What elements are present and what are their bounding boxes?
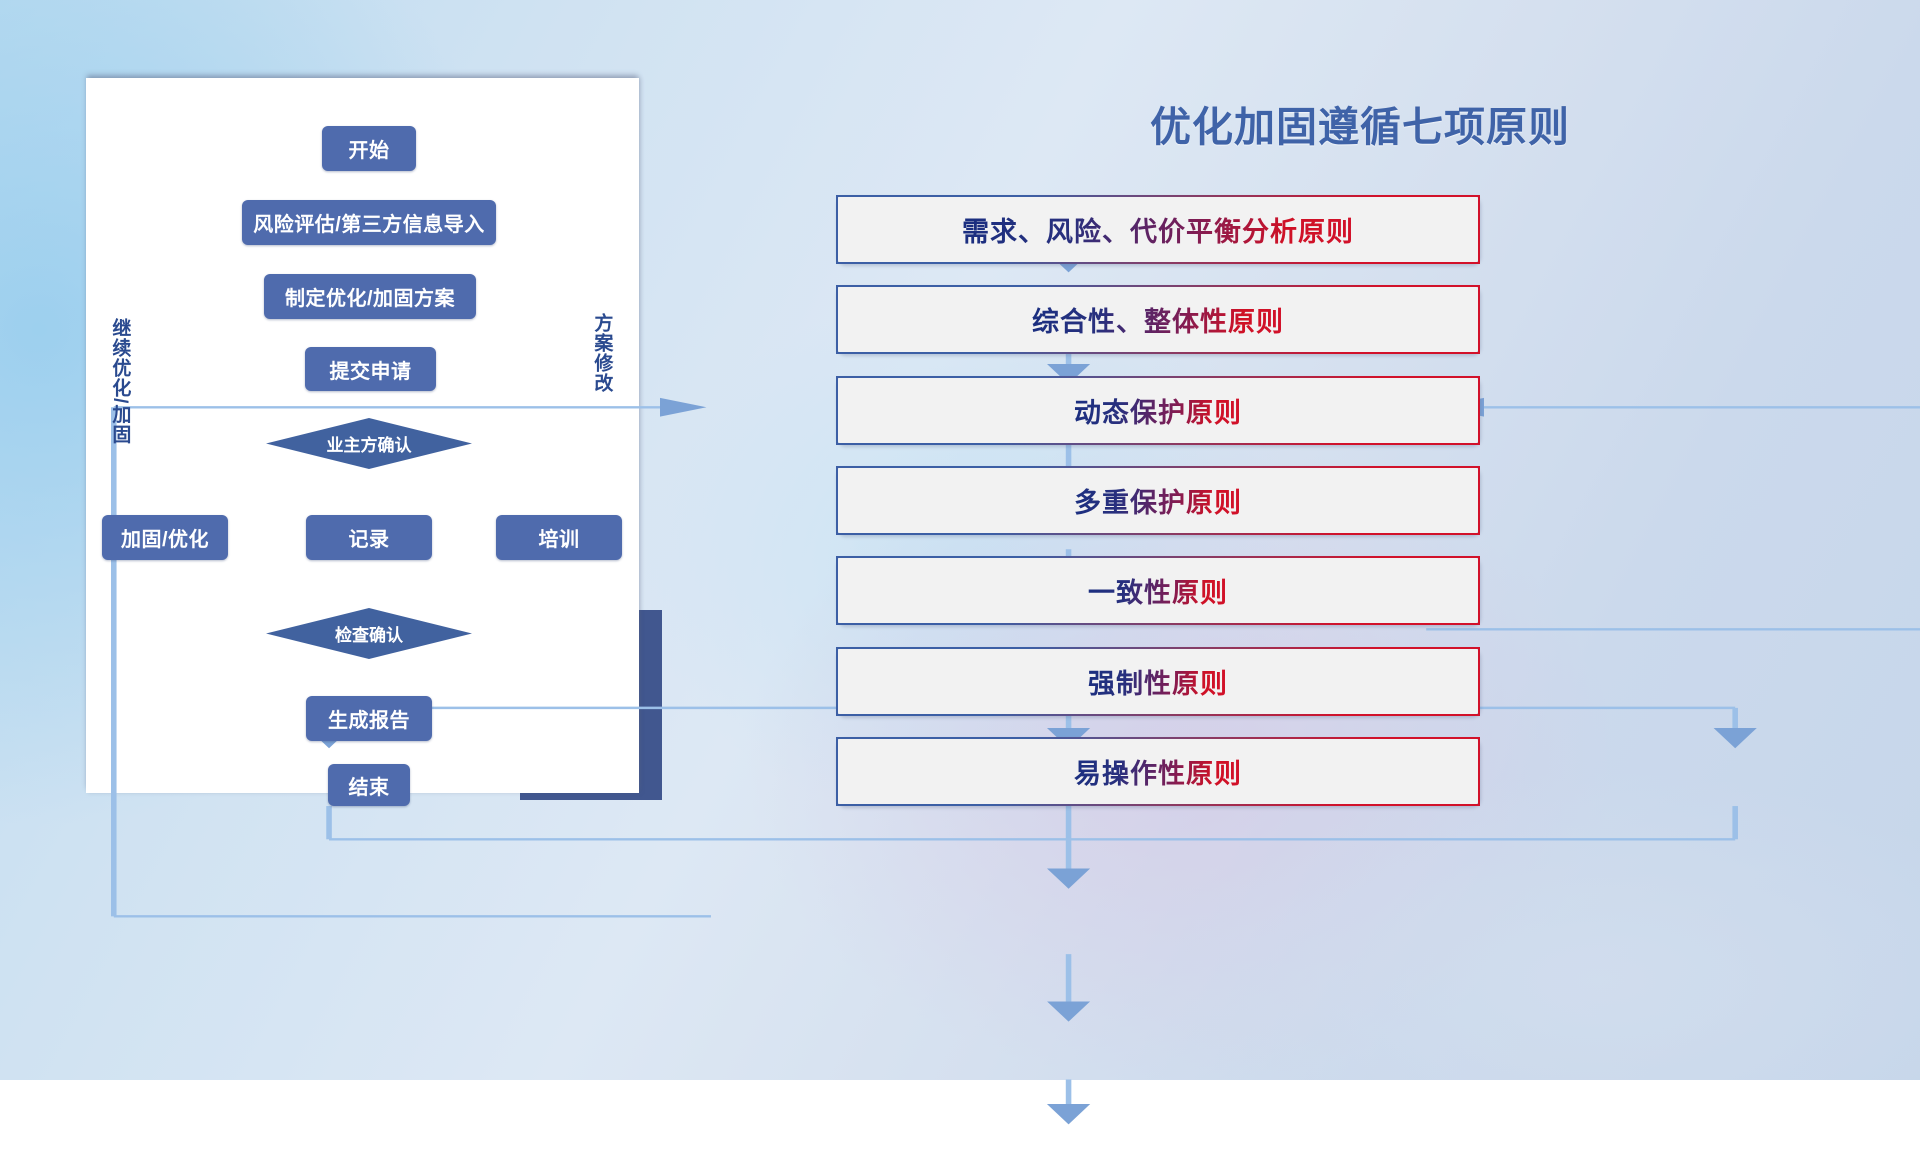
flow-node-record[interactable]: 记录 [306, 515, 432, 560]
flow-node-submit[interactable]: 提交申请 [305, 347, 436, 391]
principle-card-2-label: 综合性、整体性原则 [1032, 300, 1284, 339]
principle-card-6[interactable]: 强制性原则 [836, 647, 1480, 716]
flow-node-start[interactable]: 开始 [322, 126, 416, 171]
flow-node-report-label: 生成报告 [328, 704, 410, 733]
flow-node-end-label: 结束 [349, 771, 390, 800]
principle-card-1-label: 需求、风险、代价平衡分析原则 [962, 210, 1354, 249]
principles-title: 优化加固遵循七项原则 [940, 93, 1780, 153]
flow-node-start-label: 开始 [349, 134, 390, 163]
principle-card-3[interactable]: 动态保护原则 [836, 376, 1480, 445]
flow-node-training-label: 培训 [539, 523, 580, 552]
flow-node-submit-label: 提交申请 [330, 355, 412, 384]
flow-node-risk-assessment[interactable]: 风险评估/第三方信息导入 [242, 200, 496, 245]
principle-card-3-label: 动态保护原则 [1074, 391, 1242, 430]
flow-decision-check-confirm[interactable]: 检查确认 [266, 608, 472, 659]
flow-node-report[interactable]: 生成报告 [306, 696, 432, 741]
flow-node-reinforce-label: 加固/优化 [121, 523, 209, 552]
principle-card-7-label: 易操作性原则 [1074, 752, 1242, 791]
flowchart: 开始 风险评估/第三方信息导入 制定优化/加固方案 提交申请 业主方确认 加固/… [86, 78, 639, 793]
flow-edge-label-plan-revision: 方案修改 [592, 313, 611, 393]
principle-card-4[interactable]: 多重保护原则 [836, 466, 1480, 535]
principle-card-7[interactable]: 易操作性原则 [836, 737, 1480, 806]
principle-card-6-label: 强制性原则 [1088, 662, 1228, 701]
principle-card-5[interactable]: 一致性原则 [836, 556, 1480, 625]
flow-decision-owner-confirm-label: 业主方确认 [327, 431, 412, 456]
flow-node-risk-assessment-label: 风险评估/第三方信息导入 [253, 208, 485, 237]
flow-node-plan[interactable]: 制定优化/加固方案 [264, 274, 476, 319]
flowchart-paper: 开始 风险评估/第三方信息导入 制定优化/加固方案 提交申请 业主方确认 加固/… [86, 78, 639, 793]
flow-node-reinforce[interactable]: 加固/优化 [102, 515, 228, 560]
principle-card-5-label: 一致性原则 [1088, 571, 1228, 610]
flow-node-plan-label: 制定优化/加固方案 [285, 282, 455, 311]
principle-card-1[interactable]: 需求、风险、代价平衡分析原则 [836, 195, 1480, 264]
principle-card-2[interactable]: 综合性、整体性原则 [836, 285, 1480, 354]
principle-card-4-label: 多重保护原则 [1074, 481, 1242, 520]
flow-edge-label-continue-optimize: 继续优化/加固 [110, 318, 129, 444]
flow-decision-check-confirm-label: 检查确认 [335, 621, 403, 646]
flow-decision-owner-confirm[interactable]: 业主方确认 [266, 418, 472, 469]
flow-node-end[interactable]: 结束 [328, 764, 410, 806]
flow-node-record-label: 记录 [349, 523, 390, 552]
flow-node-training[interactable]: 培训 [496, 515, 622, 560]
